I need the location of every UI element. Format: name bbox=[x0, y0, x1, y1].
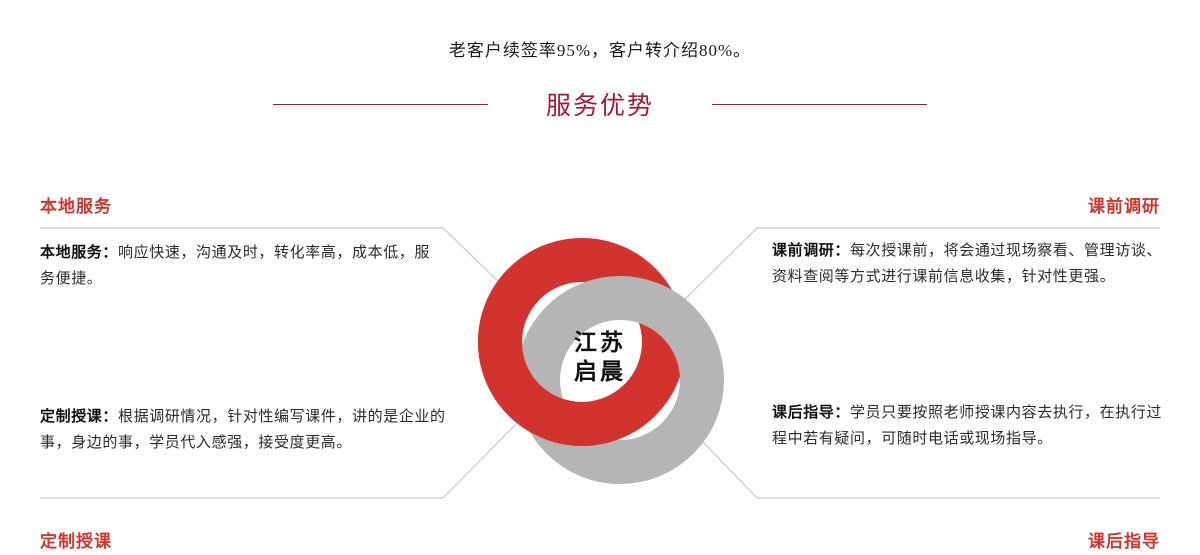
description-top-right: 课前调研：每次授课前，将会通过现场察看、管理访谈、资料查阅等方式进行课前信息收集… bbox=[772, 238, 1164, 290]
description-lead-bottom-right: 课后指导： bbox=[772, 404, 850, 421]
logo-wordmark-line1: 江苏 bbox=[470, 328, 730, 357]
corner-label-top-left: 本地服务 bbox=[40, 192, 112, 217]
logo-wordmark-line2: 启晨 bbox=[470, 357, 730, 386]
section-title-group: 服务优势 bbox=[0, 84, 1200, 124]
logo-wordmark: 江苏 启晨 bbox=[470, 328, 730, 386]
title-rule-left bbox=[273, 104, 488, 105]
title-rule-right bbox=[712, 104, 927, 105]
description-lead-bottom-left: 定制授课： bbox=[40, 408, 118, 425]
description-bottom-right: 课后指导：学员只要按照老师授课内容去执行，在执行过程中若有疑问，可随时电话或现场… bbox=[772, 400, 1164, 452]
description-lead-top-left: 本地服务： bbox=[40, 244, 118, 261]
description-lead-top-right: 课前调研： bbox=[772, 242, 850, 259]
tagline-text: 老客户续签率95%，客户转介绍80%。 bbox=[0, 36, 1200, 61]
company-logo: 江苏 启晨 bbox=[470, 230, 730, 490]
slide-canvas: 老客户续签率95%，客户转介绍80%。 服务优势 本地服务 课前调研 定制授课 … bbox=[0, 0, 1200, 555]
section-title: 服务优势 bbox=[546, 86, 654, 122]
description-top-left: 本地服务：响应快速，沟通及时，转化率高，成本低，服务便捷。 bbox=[40, 240, 440, 292]
corner-label-bottom-right: 课后指导 bbox=[1088, 527, 1160, 552]
description-bottom-left: 定制授课：根据调研情况，针对性编写课件，讲的是企业的事，身边的事，学员代入感强，… bbox=[40, 404, 450, 456]
corner-label-bottom-left: 定制授课 bbox=[40, 527, 112, 552]
corner-label-top-right: 课前调研 bbox=[1088, 192, 1160, 217]
